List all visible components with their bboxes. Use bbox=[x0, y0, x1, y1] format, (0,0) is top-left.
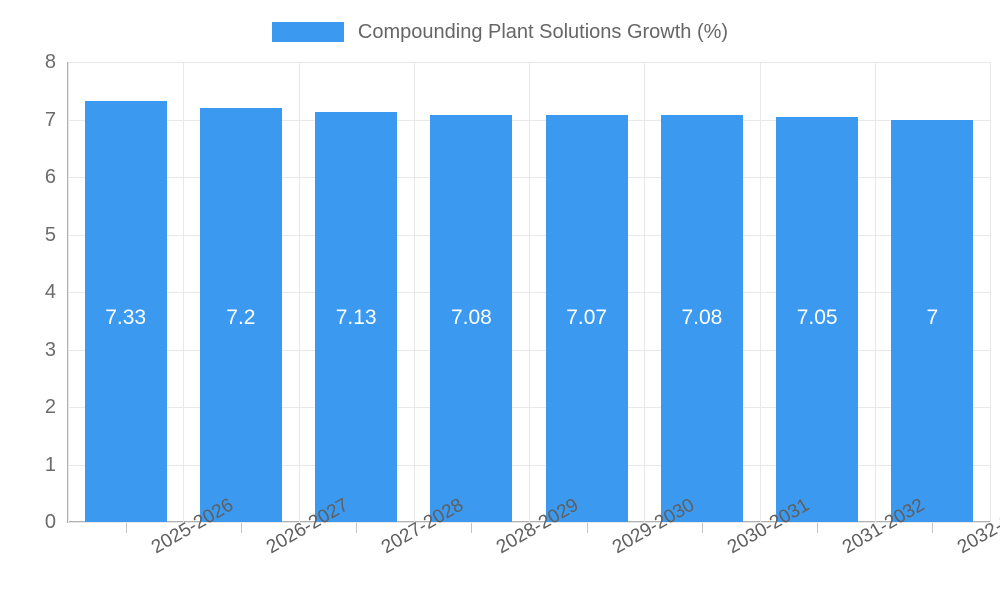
x-axis-tick-label: 2026-2027 bbox=[263, 540, 274, 559]
y-axis-tick-label: 3 bbox=[10, 340, 56, 360]
gridline-vertical bbox=[183, 62, 184, 522]
bar-value-label: 7.13 bbox=[315, 307, 397, 328]
y-axis-tick-label: 5 bbox=[10, 225, 56, 245]
bar-value-label: 7.2 bbox=[200, 307, 282, 328]
x-axis-tick-mark bbox=[817, 523, 818, 533]
bar-value-label: 7.07 bbox=[546, 307, 628, 328]
bar-value-label: 7 bbox=[891, 307, 973, 328]
x-axis-tick-label: 2029-2030 bbox=[609, 540, 620, 559]
y-axis-tick-label: 1 bbox=[10, 455, 56, 475]
x-axis-tick-mark bbox=[356, 523, 357, 533]
x-axis-tick-mark bbox=[702, 523, 703, 533]
gridline-vertical bbox=[414, 62, 415, 522]
bar-value-label: 7.08 bbox=[661, 307, 743, 328]
x-axis-tick-label: 2028-2029 bbox=[493, 540, 504, 559]
x-axis-tick-mark bbox=[587, 523, 588, 533]
legend-item-compounding-plant-solutions-growth[interactable]: Compounding Plant Solutions Growth (%) bbox=[272, 22, 728, 42]
y-axis-tick-label: 0 bbox=[10, 512, 56, 532]
x-axis-tick-mark bbox=[471, 523, 472, 533]
x-axis-tick-label: 2032-2033 bbox=[954, 540, 965, 559]
gridline-vertical bbox=[644, 62, 645, 522]
gridline-vertical bbox=[760, 62, 761, 522]
x-axis-tick-mark bbox=[241, 523, 242, 533]
bar-value-label: 7.33 bbox=[85, 307, 167, 328]
gridline-vertical bbox=[299, 62, 300, 522]
legend-color-swatch-icon bbox=[272, 22, 344, 42]
x-axis-tick-mark bbox=[932, 523, 933, 533]
y-axis-tick-label: 6 bbox=[10, 167, 56, 187]
x-axis-tick-label: 2031-2032 bbox=[839, 540, 850, 559]
gridline-vertical bbox=[68, 62, 69, 522]
x-axis-tick-label: 2030-2031 bbox=[724, 540, 735, 559]
gridline-vertical bbox=[875, 62, 876, 522]
y-axis-labels: 012345678 bbox=[0, 0, 56, 600]
x-axis-tick-mark bbox=[126, 523, 127, 533]
y-axis-tick-label: 2 bbox=[10, 397, 56, 417]
bar-value-label: 7.05 bbox=[776, 307, 858, 328]
x-axis-tick-label: 2027-2028 bbox=[378, 540, 389, 559]
x-axis-tick-label: 2025-2026 bbox=[148, 540, 159, 559]
legend-item-label: Compounding Plant Solutions Growth (%) bbox=[358, 22, 728, 42]
plot-area: 7.337.27.137.087.077.087.057 bbox=[68, 62, 990, 522]
y-axis-tick-label: 8 bbox=[10, 52, 56, 72]
gridline-vertical bbox=[529, 62, 530, 522]
gridline-vertical bbox=[990, 62, 991, 522]
bar-value-label: 7.08 bbox=[430, 307, 512, 328]
bar-chart: Compounding Plant Solutions Growth (%) 0… bbox=[0, 0, 1000, 600]
chart-legend: Compounding Plant Solutions Growth (%) bbox=[0, 14, 1000, 50]
y-axis-tick-label: 7 bbox=[10, 110, 56, 130]
y-axis-tick-label: 4 bbox=[10, 282, 56, 302]
